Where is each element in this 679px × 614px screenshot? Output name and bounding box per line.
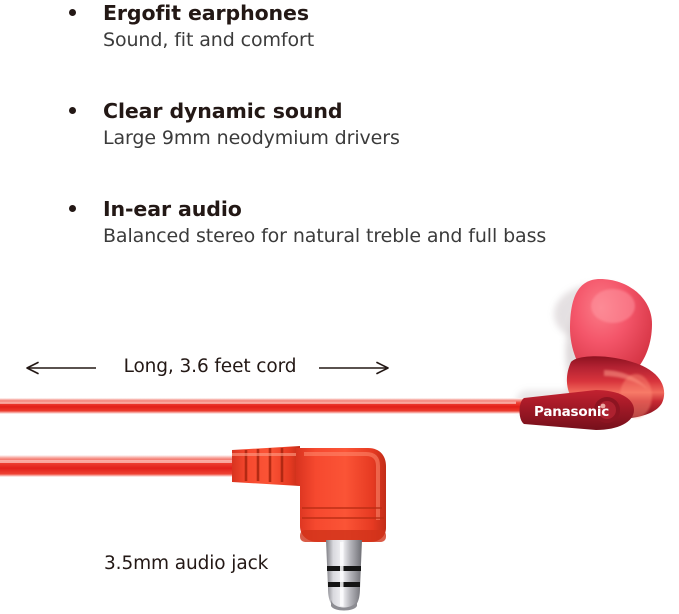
earphone-cable-upper <box>0 398 532 414</box>
plug-ring-2 <box>328 582 360 587</box>
feature-title: Ergofit earphones <box>103 0 679 26</box>
bullet-icon <box>69 205 76 212</box>
feature-item: In-ear audio Balanced stereo for natural… <box>64 196 679 249</box>
feature-title: Clear dynamic sound <box>103 98 679 124</box>
plug-ring-1 <box>327 566 361 571</box>
product-feature-graphic: Ergofit earphones Sound, fit and comfort… <box>0 0 679 614</box>
feature-title: In-ear audio <box>103 196 679 222</box>
brand-mark: Panasonic <box>534 404 609 420</box>
arrow-right-icon <box>319 363 388 374</box>
plug-specular <box>340 542 344 606</box>
feature-subtitle: Sound, fit and comfort <box>103 27 679 53</box>
cable-strain-relief <box>232 446 300 486</box>
bullet-icon <box>69 107 76 114</box>
trs-plug <box>326 540 362 611</box>
arrow-left-icon <box>27 363 96 374</box>
product-photo: Panasonic <box>0 270 679 614</box>
bullet-icon <box>69 9 76 16</box>
feature-item: Ergofit earphones Sound, fit and comfort <box>64 0 679 53</box>
earbud: Panasonic <box>520 279 665 430</box>
ear-tip-highlight <box>591 289 635 323</box>
jack-label: 3.5mm audio jack <box>104 551 268 577</box>
right-angle-jack-body <box>296 448 386 542</box>
cord-length-label: Long, 3.6 feet cord <box>105 354 315 380</box>
cord-length-annotation: Long, 3.6 feet cord <box>22 354 392 382</box>
feature-item: Clear dynamic sound Large 9mm neodymium … <box>64 98 679 151</box>
earphone-cable-lower <box>0 455 240 477</box>
feature-subtitle: Balanced stereo for natural treble and f… <box>103 223 679 249</box>
feature-subtitle: Large 9mm neodymium drivers <box>103 125 679 151</box>
